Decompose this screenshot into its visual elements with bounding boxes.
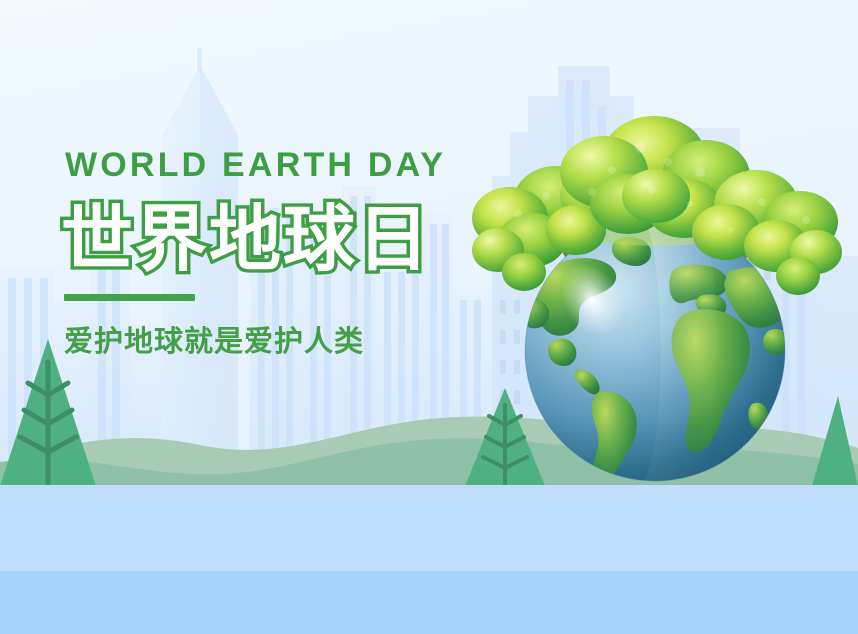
- headline-fill: 世界地球日: [61, 196, 431, 282]
- divider-rule: [64, 294, 195, 301]
- earth-day-banner: WORLD EARTH DAY 世界地球日 世界地球日 爱护地球就是爱护人类: [0, 0, 858, 634]
- eyebrow-world-earth-day: WORLD EARTH DAY: [65, 148, 493, 182]
- headline-text-block: WORLD EARTH DAY 世界地球日 世界地球日 爱护地球就是爱护人类: [63, 148, 493, 356]
- water-band-upper: [0, 485, 858, 571]
- tagline-text: 爱护地球就是爱护人类: [64, 327, 493, 356]
- headline-wrapper: 世界地球日 世界地球日: [61, 196, 493, 282]
- water-band-lower: [0, 571, 858, 634]
